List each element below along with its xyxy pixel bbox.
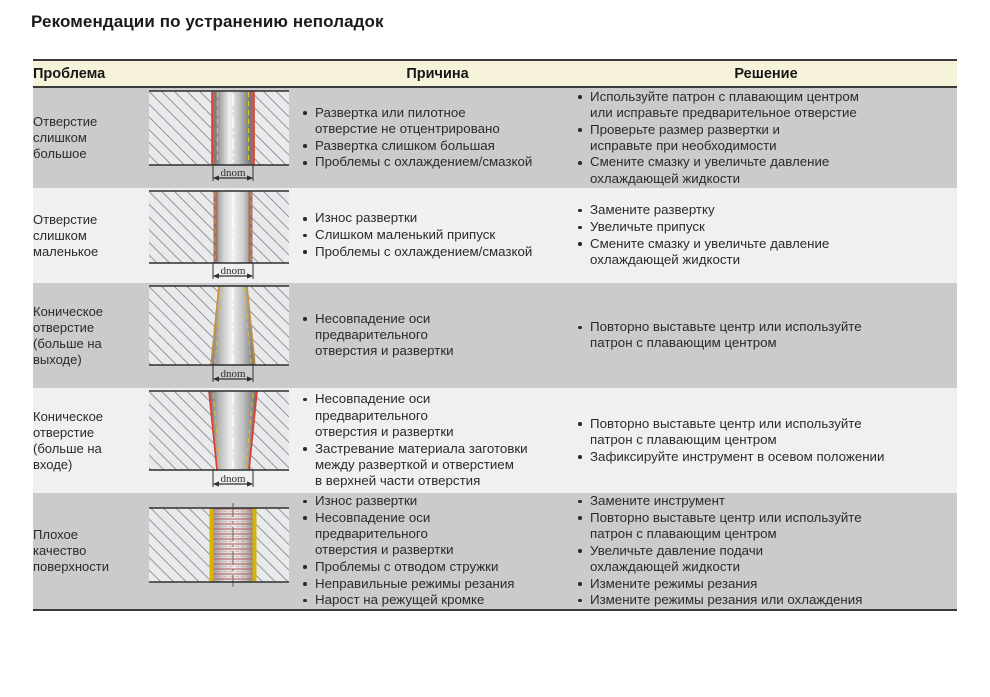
list-item: Смените смазку и увеличьте давление охла… [575,236,957,268]
dim-label: dnom [220,265,246,277]
troubleshooting-table: Проблема Причина Решение Отверстие слишк… [33,59,957,611]
cause-cell: Развертка или пилотное отверстие не отце… [300,87,575,188]
list-item: Проверьте размер развертки и исправьте п… [575,122,957,154]
list-item: Износ развертки [300,210,575,226]
figure-cell: dnom [137,283,300,388]
solution-list: Повторно выставьте центр или используйте… [575,319,957,351]
column-header-cause: Причина [300,60,575,87]
list-item: Развертка или пилотное отверстие не отце… [300,105,575,137]
list-item: Проблемы с отводом стружки [300,559,575,575]
list-item: Измените режимы резания [575,576,957,592]
problem-label: Плохое качество поверхности [33,493,137,610]
cause-list: Несовпадение оси предварительного отверс… [300,311,575,360]
cause-list: Несовпадение оси предварительного отверс… [300,391,575,489]
list-item: Увеличьте припуск [575,219,957,235]
table-row: Коническое отверстие (больше на выходе) [33,283,957,388]
solution-cell: Повторно выставьте центр или используйте… [575,388,957,493]
page-title: Рекомендации по устранению неполадок [31,12,384,32]
column-header-problem: Проблема [33,60,300,87]
table-row: Отверстие слишком большое [33,87,957,188]
list-item: Несовпадение оси предварительного отверс… [300,391,575,440]
list-item: Увеличьте давление подачи охлаждающей жи… [575,543,957,575]
list-item: Несовпадение оси предварительного отверс… [300,510,575,559]
dim-label: dnom [220,473,246,485]
cause-list: Развертка или пилотное отверстие не отце… [300,105,575,171]
dim-label: dnom [220,368,246,380]
figure-cell: dnom [137,388,300,493]
list-item: Нарост на режущей кромке [300,592,575,608]
hole-too-small-diagram: dnom [145,188,293,283]
poor-surface-finish-diagram [145,503,293,599]
list-item: Слишком маленький припуск [300,227,575,243]
list-item: Неправильные режимы резания [300,576,575,592]
list-item: Проблемы с охлаждением/смазкой [300,154,575,170]
cause-cell: Несовпадение оси предварительного отверс… [300,388,575,493]
problem-label: Отверстие слишком маленькое [33,188,137,283]
list-item: Проблемы с охлаждением/смазкой [300,244,575,260]
header-row: Проблема Причина Решение [33,60,957,87]
hole-too-large-diagram: dnom [145,88,293,188]
list-item: Повторно выставьте центр или используйте… [575,416,957,448]
figure-cell [137,493,300,610]
solution-cell: Повторно выставьте центр или используйте… [575,283,957,388]
tapered-hole-wider-at-entry-diagram: dnom [145,388,293,493]
cause-list: Износ развертки Несовпадение оси предвар… [300,493,575,608]
solution-list: Замените развертку Увеличьте припуск Сме… [575,202,957,268]
troubleshooting-table-container: Проблема Причина Решение Отверстие слишк… [33,59,957,611]
solution-list: Используйте патрон с плавающим центром и… [575,89,957,187]
list-item: Застревание материала заготовки между ра… [300,441,575,490]
list-item: Повторно выставьте центр или используйте… [575,319,957,351]
list-item: Замените развертку [575,202,957,218]
table-row: Коническое отверстие (больше на входе) [33,388,957,493]
problem-label: Коническое отверстие (больше на выходе) [33,283,137,388]
table-body: Отверстие слишком большое [33,87,957,610]
list-item: Смените смазку и увеличьте давление охла… [575,154,957,186]
list-item: Используйте патрон с плавающим центром и… [575,89,957,121]
list-item: Развертка слишком большая [300,138,575,154]
list-item: Измените режимы резания или охлаждения [575,592,957,608]
column-header-solution: Решение [575,60,957,87]
problem-label: Коническое отверстие (больше на входе) [33,388,137,493]
cause-cell: Износ развертки Слишком маленький припус… [300,188,575,283]
list-item: Зафиксируйте инструмент в осевом положен… [575,449,957,465]
cause-list: Износ развертки Слишком маленький припус… [300,210,575,260]
list-item: Повторно выставьте центр или используйте… [575,510,957,542]
list-item: Износ развертки [300,493,575,509]
solution-list: Повторно выставьте центр или используйте… [575,416,957,465]
table-row: Отверстие слишком маленькое [33,188,957,283]
solution-cell: Используйте патрон с плавающим центром и… [575,87,957,188]
cause-cell: Износ развертки Несовпадение оси предвар… [300,493,575,610]
figure-cell: dnom [137,188,300,283]
dim-label: dnom [220,167,246,179]
figure-cell: dnom [137,87,300,188]
list-item: Замените инструмент [575,493,957,509]
solution-cell: Замените инструмент Повторно выставьте ц… [575,493,957,610]
problem-label: Отверстие слишком большое [33,87,137,188]
list-item: Несовпадение оси предварительного отверс… [300,311,575,360]
cause-cell: Несовпадение оси предварительного отверс… [300,283,575,388]
table-row: Плохое качество поверхности [33,493,957,610]
tapered-hole-wider-at-exit-diagram: dnom [145,283,293,388]
table-header: Проблема Причина Решение [33,60,957,87]
solution-list: Замените инструмент Повторно выставьте ц… [575,493,957,608]
solution-cell: Замените развертку Увеличьте припуск Сме… [575,188,957,283]
